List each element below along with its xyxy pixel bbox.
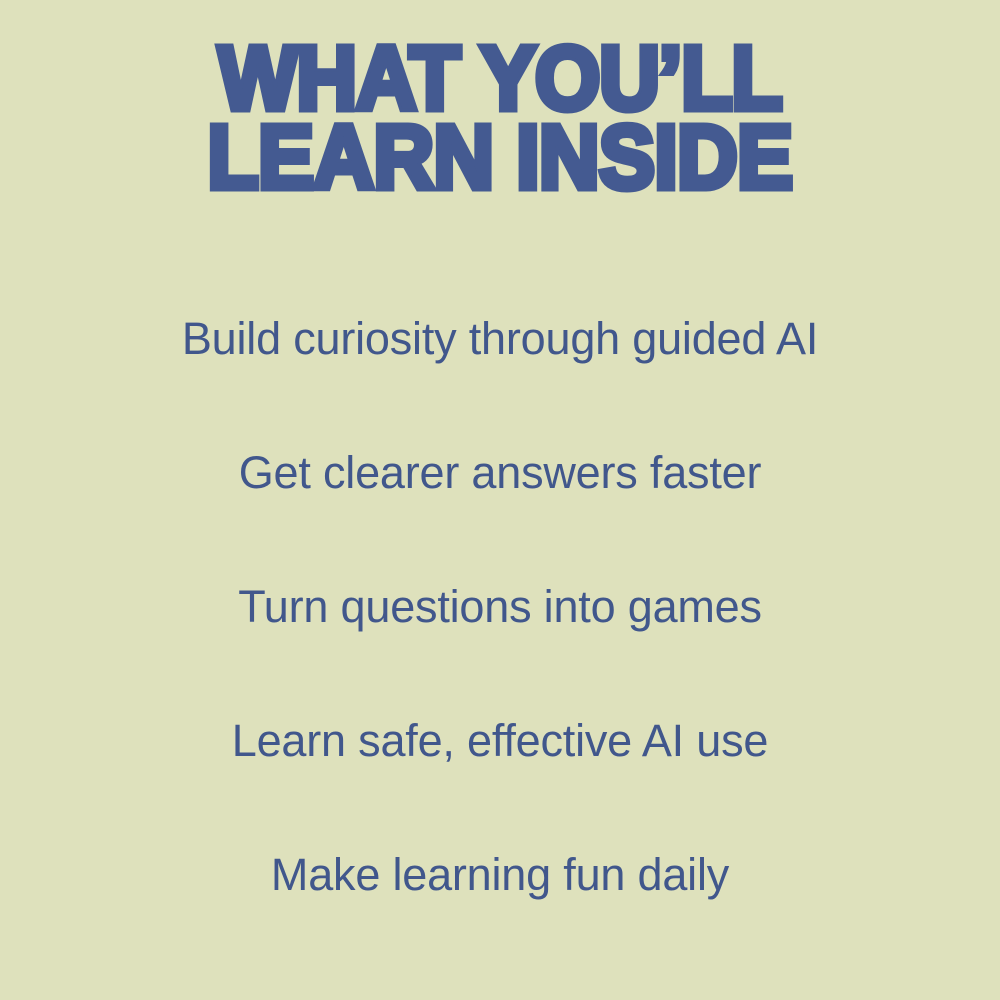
list-item: Make learning fun daily [0,808,1000,942]
list-item: Learn safe, effective AI use [0,674,1000,808]
headline-line-1: WHAT YOU’LL [35,40,965,118]
page-title: WHAT YOU’LL LEARN INSIDE [0,40,1000,198]
benefits-list: Build curiosity through guided AI Get cl… [0,272,1000,942]
list-item: Get clearer answers faster [0,406,1000,540]
headline-line-2: LEARN INSIDE [35,118,965,198]
list-item: Turn questions into games [0,540,1000,674]
list-item: Build curiosity through guided AI [0,272,1000,406]
poster-canvas: WHAT YOU’LL LEARN INSIDE Build curiosity… [0,0,1000,1000]
